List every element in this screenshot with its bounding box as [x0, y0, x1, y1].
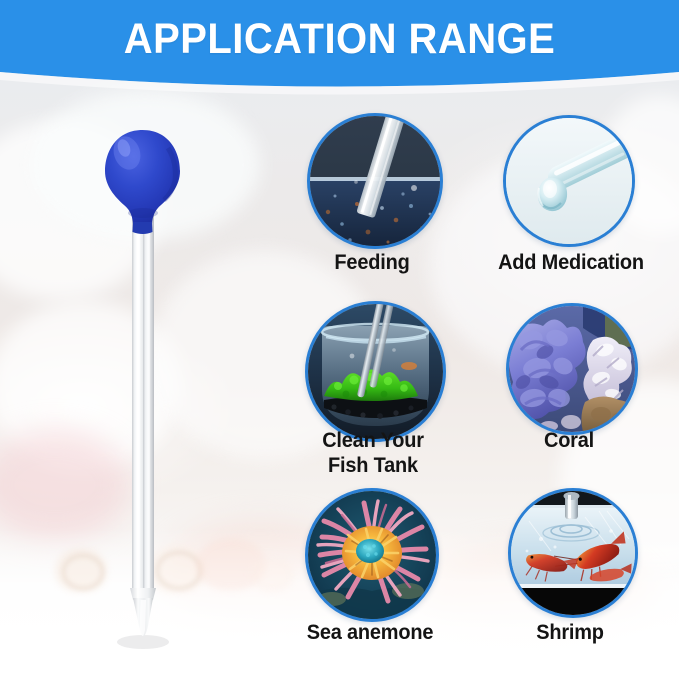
feature-label-coral: Coral: [509, 428, 629, 453]
feature-label-feeding: Feeding: [306, 250, 439, 275]
shrimp-photo-icon[interactable]: [508, 488, 638, 618]
feature-label-add-medication: Add Medication: [486, 250, 657, 275]
feeding-photo-icon[interactable]: [307, 113, 443, 249]
medication-photo-icon[interactable]: [503, 115, 635, 247]
sea-anemone-photo-icon[interactable]: [305, 488, 439, 622]
coral-photo-icon[interactable]: [506, 303, 638, 435]
feature-label-clean-your-fish-tank: Clean Your Fish Tank: [306, 428, 441, 478]
feature-label-shrimp: Shrimp: [511, 620, 629, 645]
fish-tank-photo-icon[interactable]: [305, 301, 446, 442]
application-range-infographic: APPLICATION RANGE: [0, 0, 679, 679]
feature-label-sea-anemone: Sea anemone: [298, 620, 442, 645]
